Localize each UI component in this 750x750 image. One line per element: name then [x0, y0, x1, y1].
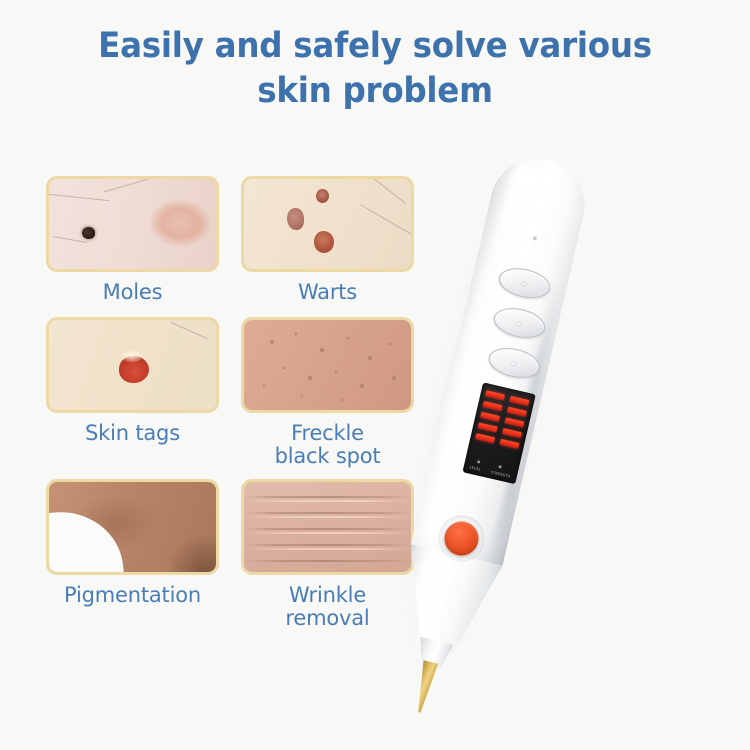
led-segment: [483, 401, 503, 411]
skin-problem-caption: Moles: [103, 281, 163, 305]
mode-button-3-glyph: ○: [510, 358, 518, 367]
skin-problem-item-pigmentation[interactable]: Pigmentation: [46, 479, 219, 631]
led-segment-rows: [475, 390, 529, 449]
skin-problem-caption: Pigmentation: [64, 584, 201, 608]
led-marker-dot: [498, 465, 502, 469]
skin-photo-skin-tags: [46, 317, 219, 413]
page-title-line-1: Easily and safely solve various: [75, 24, 676, 69]
led-segment: [478, 422, 498, 432]
skin-photo-freckle: [241, 317, 414, 413]
led-segment: [505, 417, 525, 427]
led-segment: [502, 428, 522, 438]
led-label-left: LEVEL: [469, 465, 481, 472]
led-segment: [480, 412, 500, 422]
led-segment: [500, 439, 520, 449]
skin-problem-item-wrinkle[interactable]: Wrinkle removal: [241, 479, 414, 631]
led-segment: [485, 390, 505, 400]
skin-photo-pigmentation: [46, 479, 219, 575]
skin-problem-caption: Wrinkle removal: [285, 584, 369, 631]
skin-problem-item-warts[interactable]: Warts: [241, 176, 414, 305]
skin-problem-caption: Freckle black spot: [275, 422, 381, 469]
skin-problem-item-freckle[interactable]: Freckle black spot: [241, 317, 414, 469]
led-marker-dot: [477, 460, 481, 464]
needle-tip: [411, 660, 440, 715]
skin-problem-caption: Skin tags: [85, 422, 180, 446]
skin-problem-item-moles[interactable]: Moles: [46, 176, 219, 305]
product-image-plasma-pen: ○ ○ ○ LEVEL STRENGTH: [430, 140, 730, 700]
skin-photo-wrinkle: [241, 479, 414, 575]
led-segment: [509, 396, 529, 406]
skin-photo-moles: [46, 176, 219, 272]
skin-photo-warts: [241, 176, 414, 272]
skin-problem-row: Skin tags Freckle black spot: [46, 317, 414, 469]
skin-problem-item-skin-tags[interactable]: Skin tags: [46, 317, 219, 469]
skin-problem-row: Moles Warts: [46, 176, 414, 305]
led-segment: [507, 407, 527, 417]
product-feature-page: Easily and safely solve various skin pro…: [0, 0, 750, 750]
skin-problem-row: Pigmentation: [46, 479, 414, 631]
skin-problem-grid: Moles Warts: [46, 176, 414, 637]
mode-button-1-glyph: ○: [520, 278, 528, 287]
page-title: Easily and safely solve various skin pro…: [75, 24, 676, 114]
mode-button-2-glyph: ○: [515, 318, 523, 327]
plasma-pen-device: ○ ○ ○ LEVEL STRENGTH: [392, 149, 594, 648]
page-title-line-2: skin problem: [75, 69, 676, 114]
led-segment: [475, 433, 495, 443]
led-label-right: STRENGTH: [490, 470, 510, 479]
skin-problem-caption: Warts: [298, 281, 357, 305]
